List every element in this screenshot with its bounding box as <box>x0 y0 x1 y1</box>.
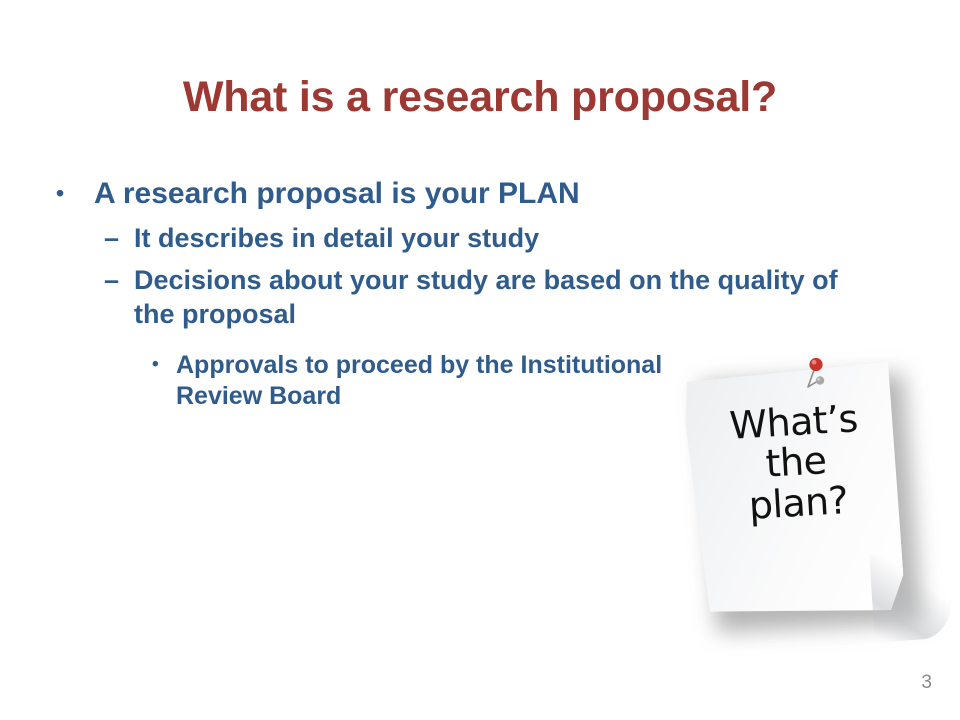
sticky-note-text: What’s the plan? <box>695 396 898 528</box>
slide-number: 3 <box>921 672 932 694</box>
list-item: – Decisions about your study are based o… <box>104 264 900 331</box>
list-item-label: A research proposal is your PLAN <box>94 176 580 213</box>
slide-canvas: What is a research proposal? • A researc… <box>0 0 960 720</box>
bullet-dot-icon: • <box>56 176 94 211</box>
list-item: – It describes in detail your study <box>104 222 900 255</box>
bullet-dot-icon: • <box>152 350 176 379</box>
bullet-dash-icon: – <box>104 222 134 255</box>
bullet-dash-icon: – <box>104 264 134 297</box>
page-title: What is a research proposal? <box>0 74 960 121</box>
sticky-note-image: What’s the plan? <box>668 356 960 656</box>
list-item-label: It describes in detail your study <box>134 222 539 255</box>
list-item: • A research proposal is your PLAN <box>56 176 900 213</box>
list-item-label: Approvals to proceed by the Institutiona… <box>176 350 696 413</box>
list-item-label: Decisions about your study are based on … <box>134 264 874 331</box>
